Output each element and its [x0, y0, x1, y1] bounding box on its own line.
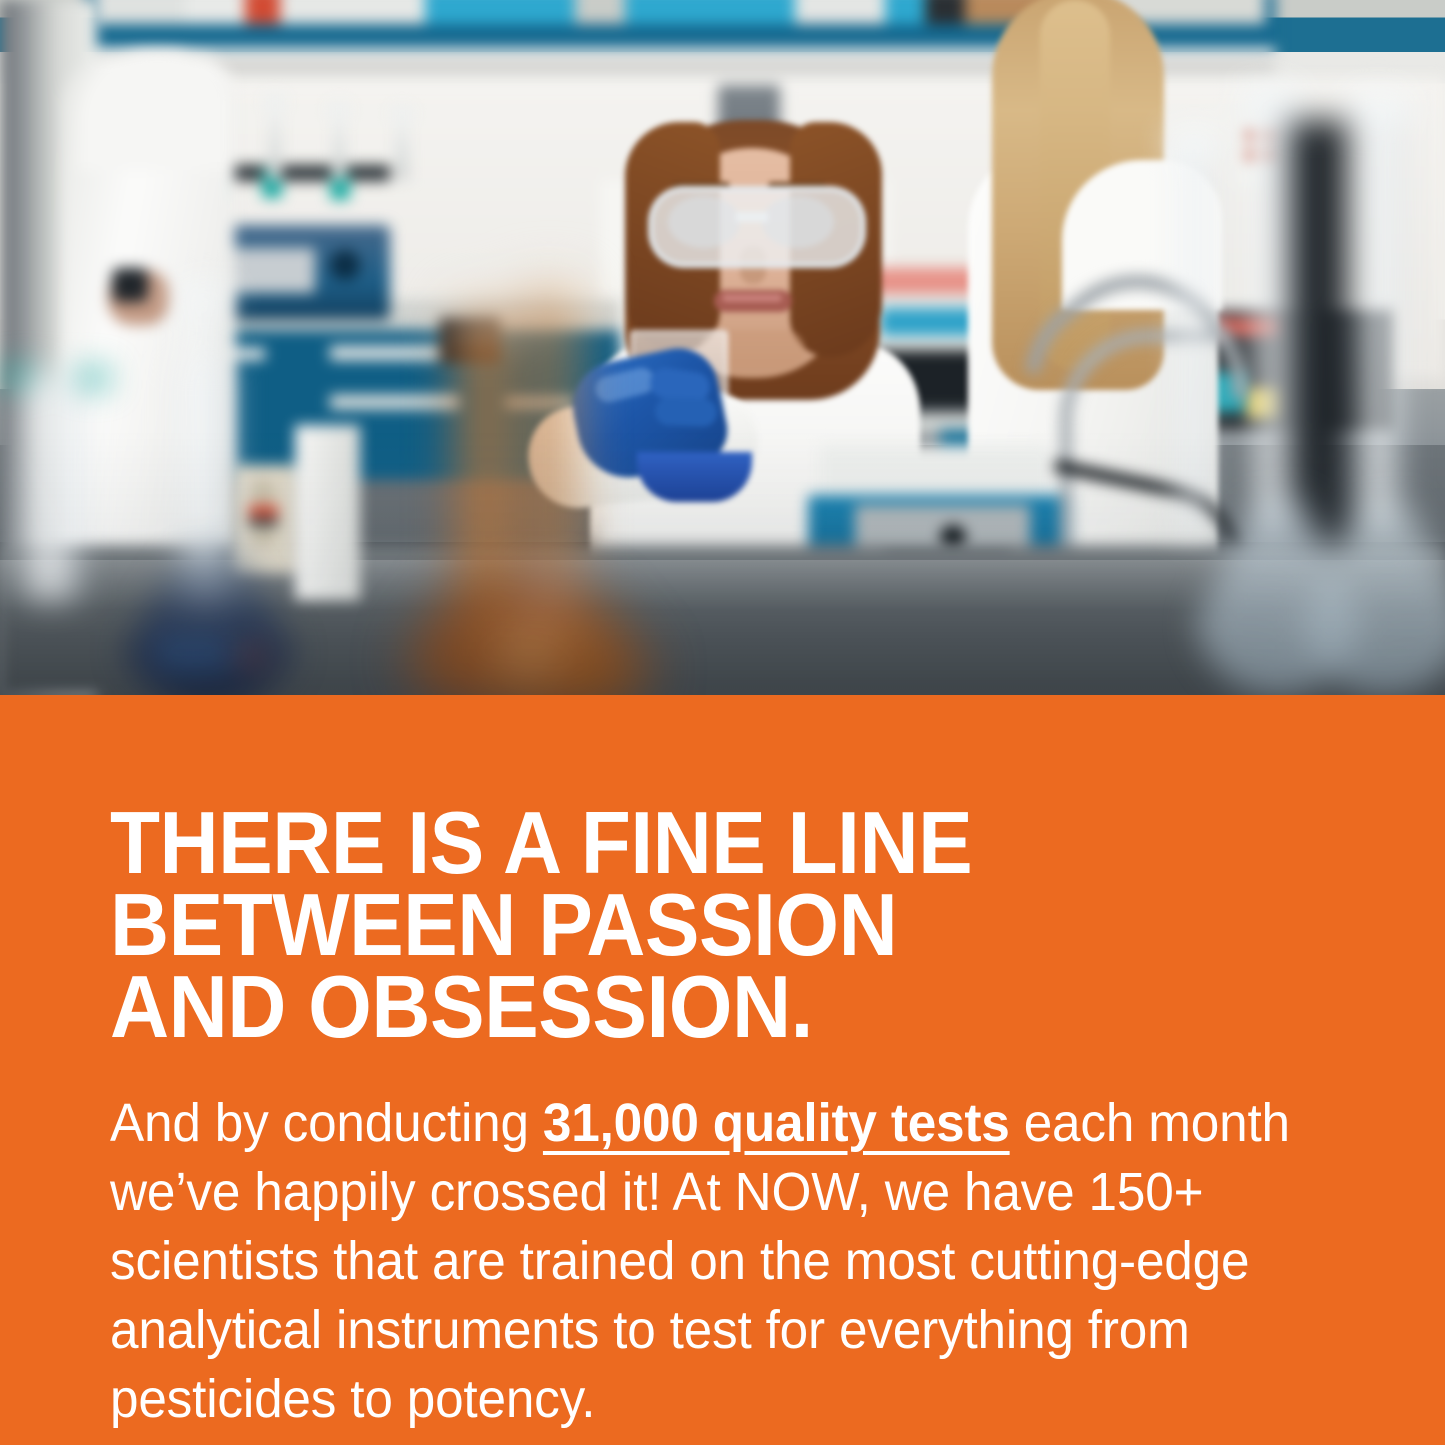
laboratory-photo: 500 — [0, 0, 1445, 695]
glove-finger — [655, 397, 718, 427]
body-text-before: And by conducting — [110, 1093, 543, 1153]
test-tube-cap — [390, 105, 414, 121]
safety-goggles-bridge — [736, 212, 768, 222]
scientist-left-shoulder — [78, 50, 228, 170]
test-tube-cap — [327, 101, 351, 117]
cabinet-handle — [330, 395, 460, 409]
foreground-depth-veil — [0, 430, 1445, 695]
orange-text-panel: THERE IS A FINE LINE BETWEEN PASSION AND… — [0, 695, 1445, 1445]
quality-tests-highlight: 31,000 quality tests — [543, 1093, 1010, 1153]
handheld-device — [112, 268, 148, 302]
test-tube — [395, 112, 409, 180]
body-paragraph: And by conducting 31,000 quality tests e… — [110, 1089, 1336, 1435]
test-tube — [332, 108, 346, 180]
page-title: THERE IS A FINE LINE BETWEEN PASSION AND… — [110, 802, 1254, 1047]
safety-goggles — [648, 186, 866, 268]
poster-root: 500 THERE IS A FINE LINE BETWEEN PASS — [0, 0, 1445, 1445]
teal-bottle-cap — [78, 370, 108, 386]
instrument-knob — [330, 250, 360, 280]
test-tube — [268, 100, 282, 180]
scientist-lip-highlight — [722, 294, 782, 302]
test-tube-cap — [263, 93, 287, 109]
